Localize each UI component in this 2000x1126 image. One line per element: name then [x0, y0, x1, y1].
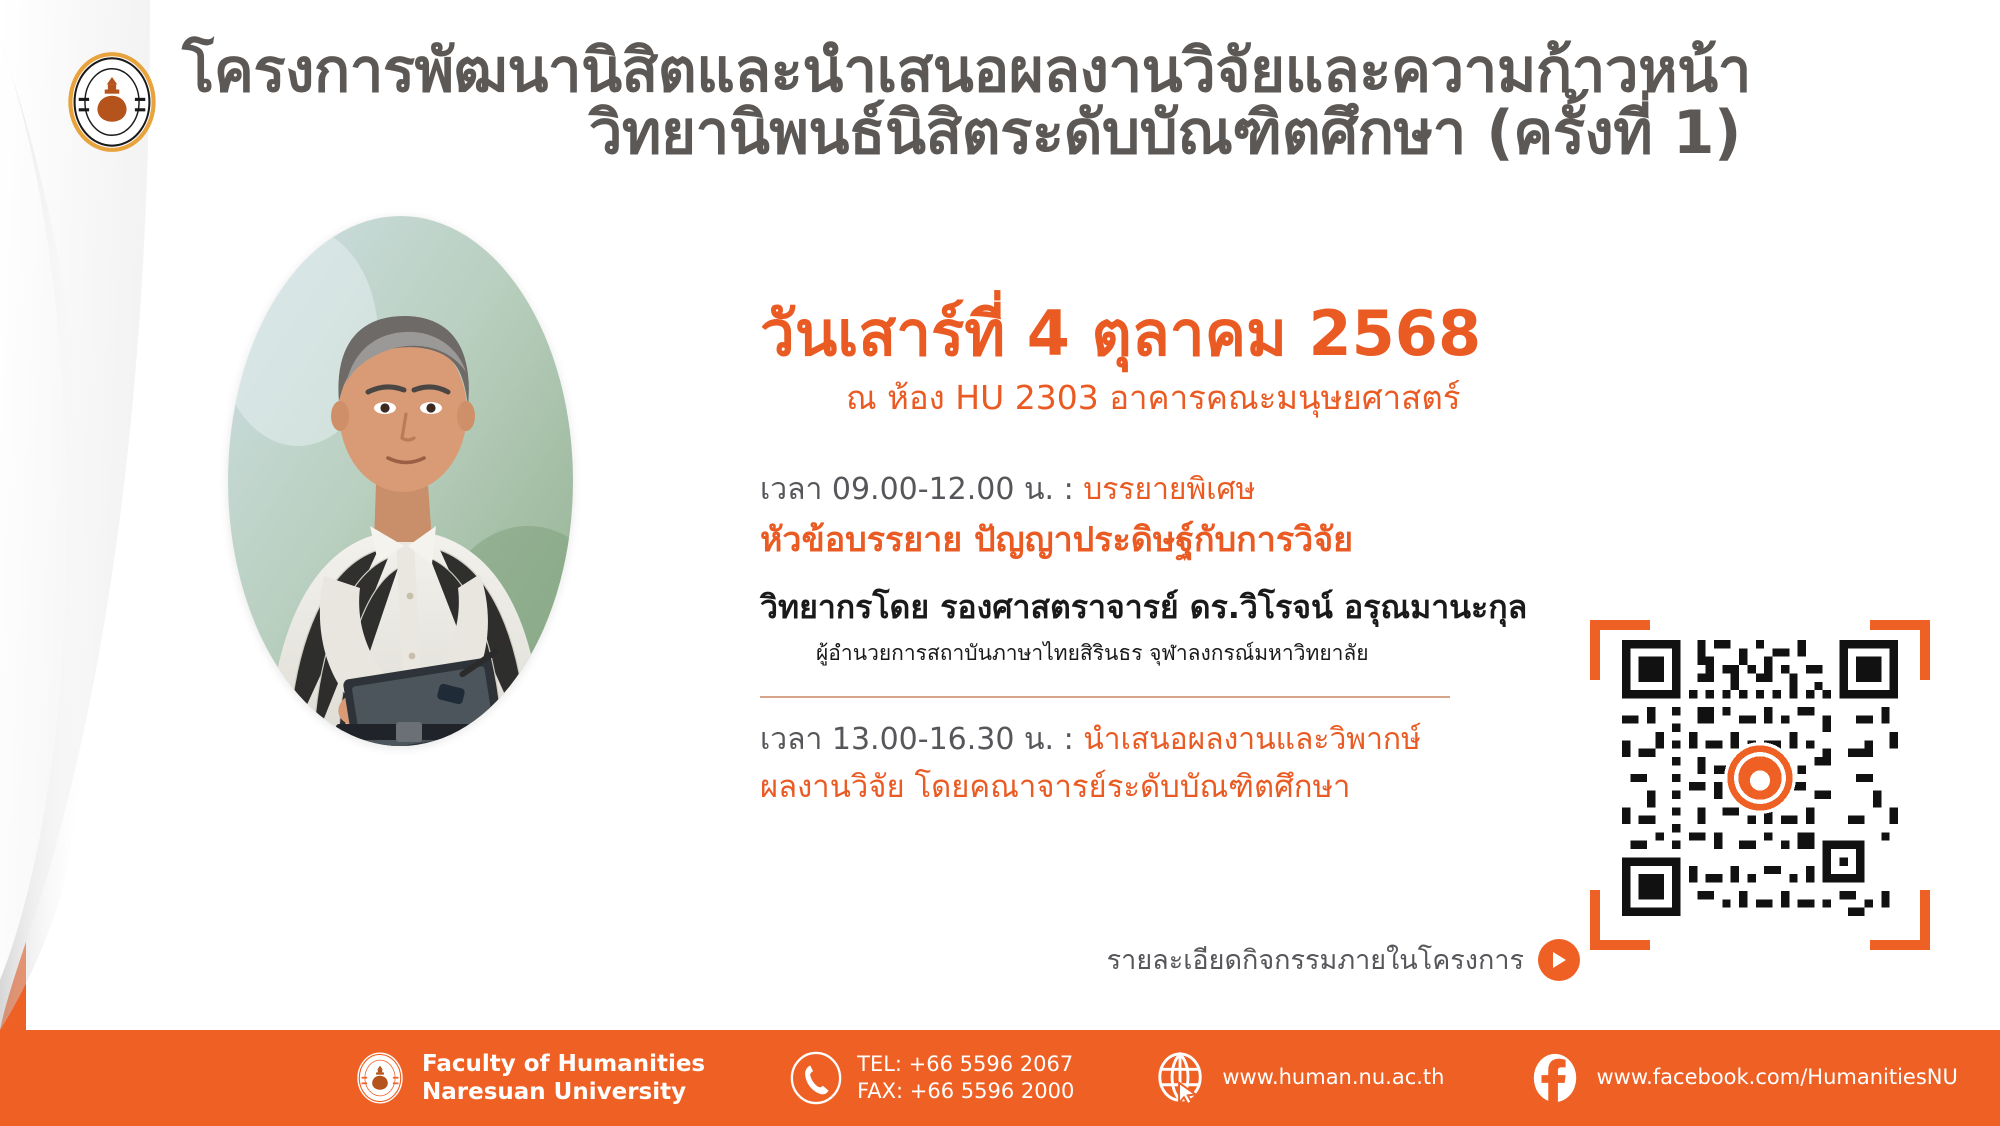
poster-title-line-1: โครงการพัฒนานิสิตและนำเสนอผลงานวิจัยและค…	[182, 40, 1751, 102]
footer-seal-icon	[352, 1050, 408, 1106]
session-morning-time-row: เวลา 09.00-12.00 น. : บรรยายพิเศษ	[760, 470, 1910, 511]
event-poster: โครงการพัฒนานิสิตและนำเสนอผลงานวิจัยและค…	[0, 0, 2000, 1126]
footer-org-line-2: Naresuan University	[422, 1078, 705, 1106]
session-morning-headline: หัวข้อบรรยาย ปัญญาประดิษฐ์กับการวิจัย	[760, 518, 1910, 564]
footer-tel: TEL: +66 5596 2067	[857, 1051, 1074, 1078]
footer-org-line-1: Faculty of Humanities	[422, 1050, 705, 1078]
footer-facebook[interactable]: www.facebook.com/HumanitiesNU	[1528, 1051, 1957, 1105]
qr-caption-text: รายละเอียดกิจกรรมภายในโครงการ	[1107, 938, 1524, 981]
poster-footer: Faculty of Humanities Naresuan Universit…	[0, 1030, 2000, 1126]
footer-facebook-text[interactable]: www.facebook.com/HumanitiesNU	[1596, 1064, 1957, 1091]
session-morning-type: บรรยายพิเศษ	[1083, 472, 1255, 507]
footer-org-name: Faculty of Humanities Naresuan Universit…	[422, 1050, 705, 1106]
footer-phone-text: TEL: +66 5596 2067 FAX: +66 5596 2000	[857, 1051, 1074, 1106]
title-block: โครงการพัฒนานิสิตและนำเสนอผลงานวิจัยและค…	[182, 40, 1751, 165]
session-afternoon-type: นำเสนอผลงานและวิพากษ์	[1083, 722, 1421, 757]
qr-code-block[interactable]	[1590, 620, 1930, 950]
phone-icon	[789, 1051, 843, 1105]
session-afternoon-time: เวลา 13.00-16.30 น. :	[760, 722, 1083, 757]
poster-header: โครงการพัฒนานิสิตและนำเสนอผลงานวิจัยและค…	[60, 40, 1960, 220]
nu-seal-icon	[60, 50, 164, 154]
play-triangle-icon[interactable]	[1538, 939, 1580, 981]
session-morning-time: เวลา 09.00-12.00 น. :	[760, 472, 1083, 507]
footer-website[interactable]: www.human.nu.ac.th	[1154, 1051, 1444, 1105]
poster-title-line-2: วิทยานิพนธ์นิสิตระดับบัณฑิตศึกษา (ครั้งท…	[182, 102, 1751, 164]
event-venue: ณ ห้อง HU 2303 อาคารคณะมนุษยศาสตร์	[846, 378, 1910, 418]
section-divider	[760, 696, 1450, 698]
footer-website-text[interactable]: www.human.nu.ac.th	[1222, 1064, 1444, 1091]
event-date: วันเสาร์ที่ 4 ตุลาคม 2568	[760, 300, 1910, 368]
globe-cursor-icon	[1154, 1051, 1208, 1105]
speaker-portrait	[228, 216, 573, 746]
facebook-icon	[1528, 1051, 1582, 1105]
qr-code-image[interactable]	[1622, 640, 1898, 916]
footer-fax: FAX: +66 5596 2000	[857, 1078, 1074, 1105]
footer-phone: TEL: +66 5596 2067 FAX: +66 5596 2000	[789, 1051, 1074, 1106]
qr-caption-row[interactable]: รายละเอียดกิจกรรมภายในโครงการ	[1060, 938, 1580, 981]
footer-organization: Faculty of Humanities Naresuan Universit…	[352, 1050, 705, 1106]
